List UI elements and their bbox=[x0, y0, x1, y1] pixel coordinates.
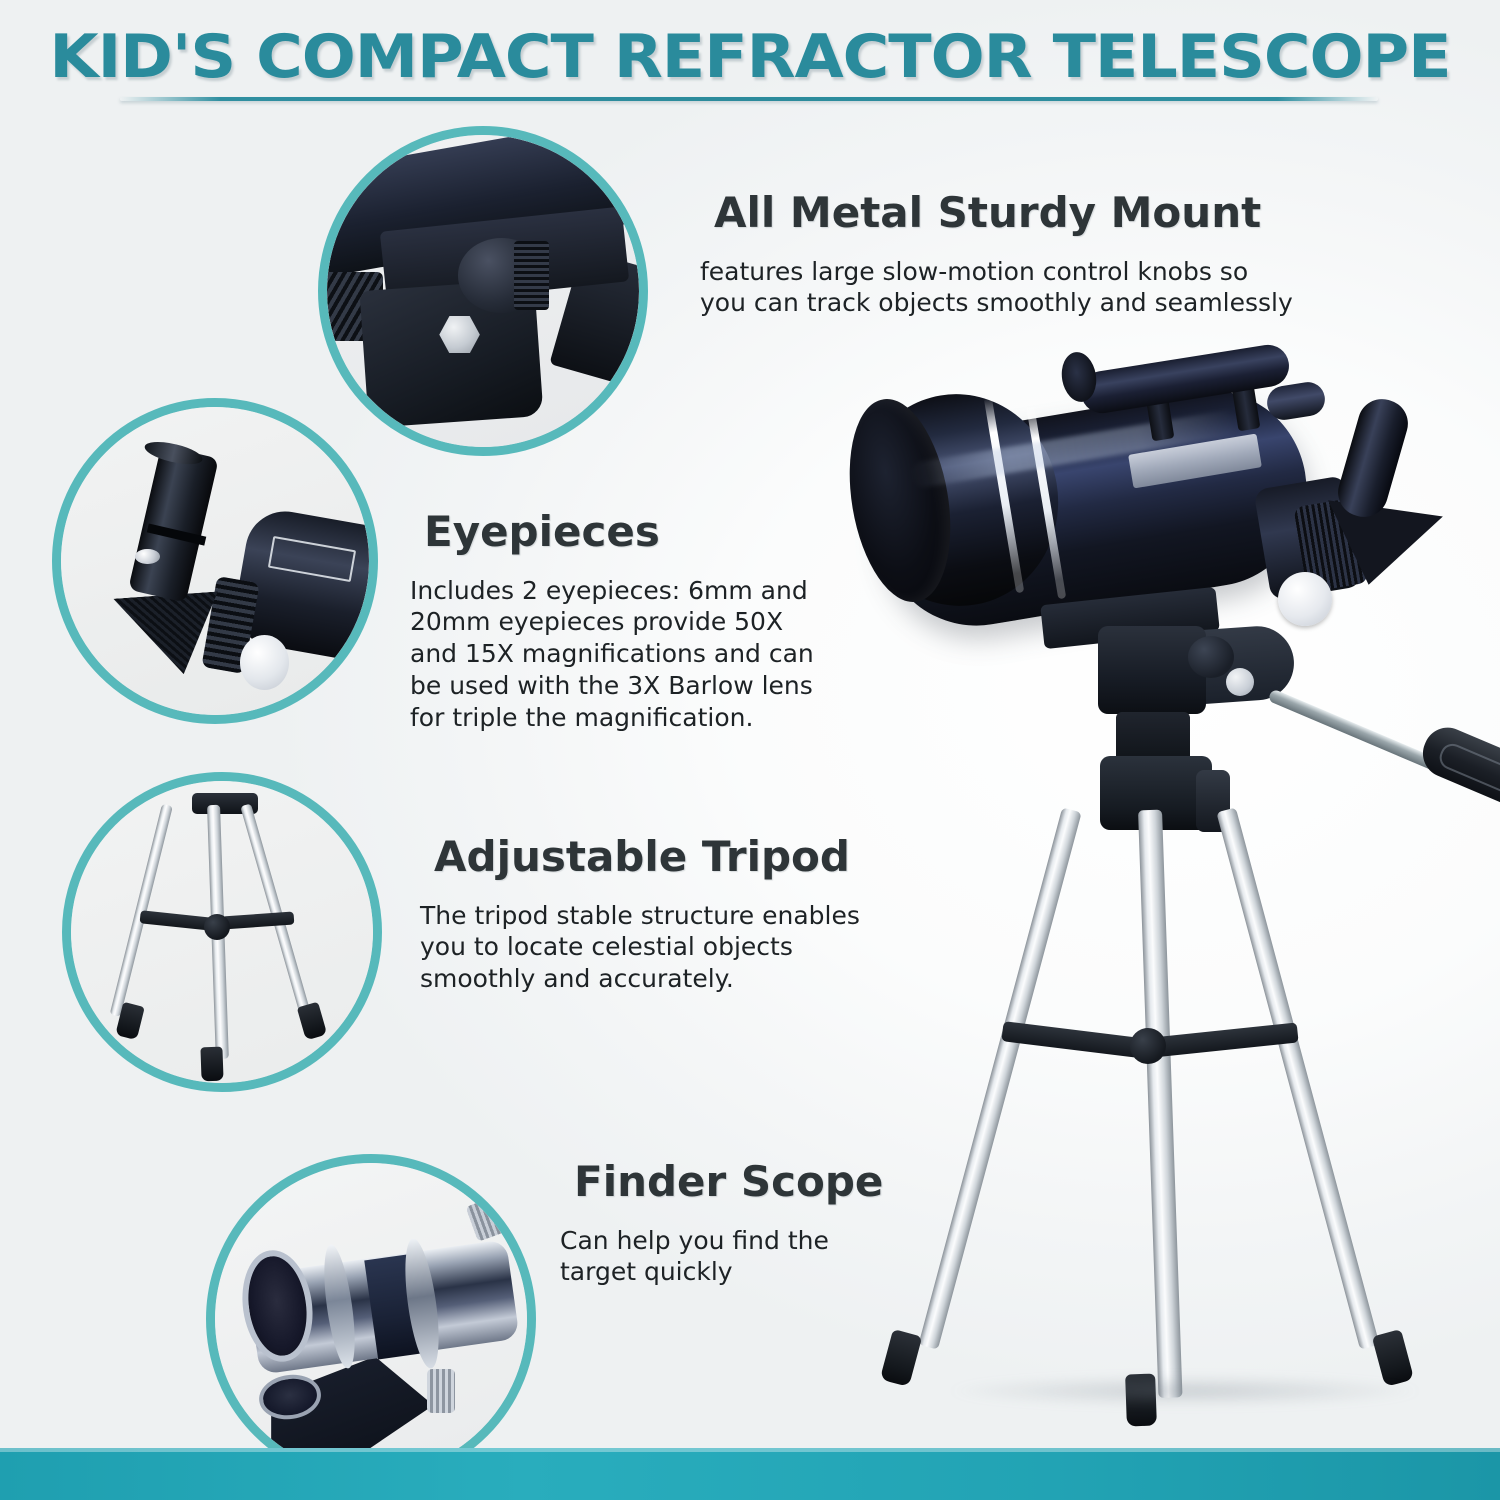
eyepiece-tube bbox=[1332, 393, 1413, 522]
page-title: KID'S COMPACT REFRACTOR TELESCOPE bbox=[49, 22, 1450, 92]
tripod-brace-hub bbox=[1130, 1028, 1166, 1064]
pan-handle-rod bbox=[1267, 689, 1443, 774]
tripod-leg-center bbox=[1138, 810, 1183, 1398]
altitude-screw bbox=[1226, 668, 1254, 696]
mount-head bbox=[1098, 626, 1206, 714]
feature-body: Includes 2 eyepieces: 6mm and 20mm eyepi… bbox=[410, 575, 880, 734]
hero-shadow bbox=[950, 1376, 1420, 1406]
tripod-foot-right bbox=[1372, 1329, 1414, 1387]
altitude-knob bbox=[1188, 636, 1234, 678]
title-underline-rule bbox=[120, 97, 1378, 101]
pan-handle-grip bbox=[1415, 720, 1500, 818]
feature-body: features large slow-motion control knobs… bbox=[700, 256, 1400, 320]
finder-eyepiece bbox=[1265, 380, 1328, 423]
feature-heading: Eyepieces bbox=[410, 505, 682, 561]
feature-eyepieces: Eyepieces Includes 2 eyepieces: 6mm and … bbox=[410, 505, 880, 733]
tripod-leg-left bbox=[918, 807, 1081, 1349]
tripod-brace-right bbox=[1151, 1022, 1298, 1057]
photo-circle-eyepieces bbox=[52, 398, 378, 724]
bottom-accent-bar bbox=[0, 1448, 1500, 1500]
infographic-canvas: KID'S COMPACT REFRACTOR TELESCOPE bbox=[0, 0, 1500, 1500]
page-title-wrap: KID'S COMPACT REFRACTOR TELESCOPE bbox=[0, 22, 1500, 92]
feature-heading: All Metal Sturdy Mount bbox=[700, 186, 1283, 242]
tripod-leg-right bbox=[1216, 807, 1379, 1349]
tripod-foot-left bbox=[880, 1329, 922, 1387]
hero-product-image bbox=[830, 340, 1490, 1460]
diagonal-wedge bbox=[1317, 500, 1443, 593]
photo-circle-finder-scope bbox=[206, 1154, 536, 1484]
feature-heading: Adjustable Tripod bbox=[420, 830, 872, 886]
focus-white-knob bbox=[1278, 572, 1332, 626]
photo-circle-tripod bbox=[62, 772, 382, 1092]
tripod-brace-left bbox=[1001, 1021, 1148, 1059]
feature-all-metal-sturdy-mount: All Metal Sturdy Mount features large sl… bbox=[700, 186, 1400, 319]
